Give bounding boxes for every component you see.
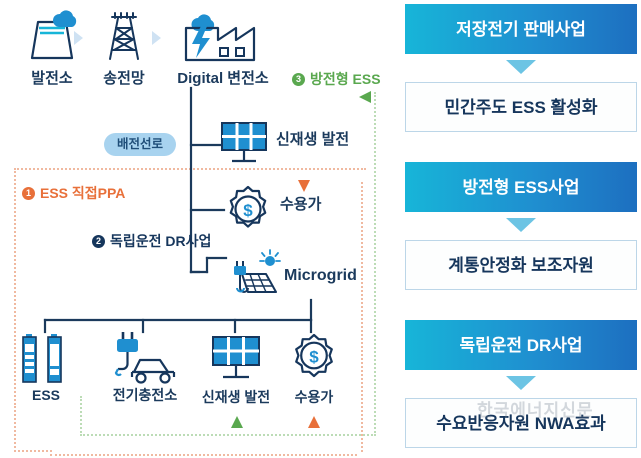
- badge-label-1: ESS 직접PPA: [40, 186, 125, 200]
- orange-flow-arrow-down-icon: [296, 178, 312, 194]
- flow-arrow-3-icon: [506, 376, 536, 390]
- bottom-node-ev-charger-label: 전기충전소: [100, 388, 190, 402]
- solar-panel-icon: [209, 332, 263, 386]
- solar-panel-icon: [218, 118, 270, 170]
- orange-flow-arrow-up-icon: [306, 414, 322, 430]
- right-flow-panel: 저장전기 판매사업 민간주도 ESS 활성화 방전형 ESS사업 계통안정화 보…: [405, 4, 637, 454]
- battery-bank-icon: [18, 330, 74, 386]
- gear-dollar-icon: $: [288, 332, 340, 384]
- flow-step-3: 방전형 ESS사업: [405, 162, 637, 212]
- bottom-node-renewable: 신재생 발전: [209, 332, 263, 391]
- flow-arrow-1-icon: [506, 60, 536, 74]
- flow-step-1: 저장전기 판매사업: [405, 4, 637, 54]
- bottom-node-renewable-label: 신재생 발전: [191, 390, 281, 404]
- badge-independent-dr: 2 독립운전 DR사업: [92, 234, 211, 248]
- flow-arrow-2-icon: [506, 218, 536, 232]
- left-diagram-panel: 발전소: [0, 0, 398, 458]
- bottom-node-consumer: $ 수용가: [288, 332, 340, 389]
- flow-step-2: 민간주도 ESS 활성화: [405, 82, 637, 132]
- svg-text:$: $: [309, 348, 319, 367]
- badge-ess-direct-ppa: 1 ESS 직접PPA: [22, 186, 125, 200]
- branch-node-consumer-label: 수용가: [280, 197, 321, 212]
- bottom-node-consumer-label: 수용가: [269, 390, 359, 404]
- badge-number-2: 2: [92, 235, 105, 248]
- svg-text:$: $: [243, 201, 253, 220]
- distribution-line-pill: 배전선로: [104, 133, 176, 156]
- branch-node-renewable-label: 신재생 발전: [276, 132, 349, 147]
- badge-number-1: 1: [22, 187, 35, 200]
- bottom-node-ess-label: ESS: [1, 388, 91, 402]
- branch-node-microgrid-label: Microgrid: [284, 268, 357, 284]
- green-flow-arrow-up-icon: [229, 414, 245, 430]
- flow-step-5: 독립운전 DR사업: [405, 320, 637, 370]
- bottom-node-ess: ESS: [18, 330, 74, 391]
- microgrid-solar-plug-icon: [222, 248, 286, 300]
- badge-label-2: 독립운전 DR사업: [110, 234, 211, 248]
- gear-dollar-icon: $: [222, 183, 274, 235]
- infographic-root: 발전소: [0, 0, 641, 458]
- flow-step-4: 계통안정화 보조자원: [405, 240, 637, 290]
- ev-charging-station-icon: [110, 330, 180, 386]
- watermark-text: 한국에너지신문: [477, 402, 593, 419]
- bottom-node-ev-charger: 전기충전소: [110, 330, 180, 391]
